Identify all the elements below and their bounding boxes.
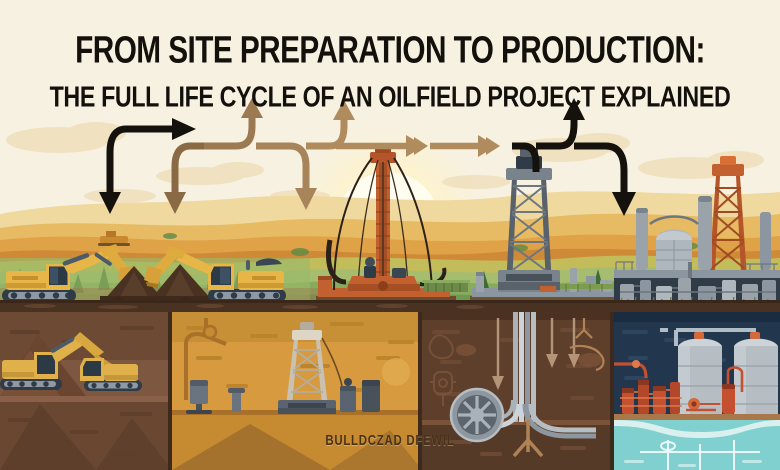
ground-line xyxy=(0,300,780,312)
rig-walkway xyxy=(422,280,470,292)
earthworks-panel xyxy=(0,312,173,470)
storage-tank-b xyxy=(734,332,778,414)
processing-panel xyxy=(614,312,780,470)
infographic-canvas: FROM SITE PREPARATION TO PRODUCTION: THE… xyxy=(0,0,780,470)
drilling-panel xyxy=(172,312,423,470)
wellbore-panel xyxy=(422,312,615,470)
storage-tank-a xyxy=(678,332,722,414)
bop-wheel xyxy=(451,389,503,441)
mud-tank-group xyxy=(318,276,332,290)
landscape-layer xyxy=(0,0,780,470)
